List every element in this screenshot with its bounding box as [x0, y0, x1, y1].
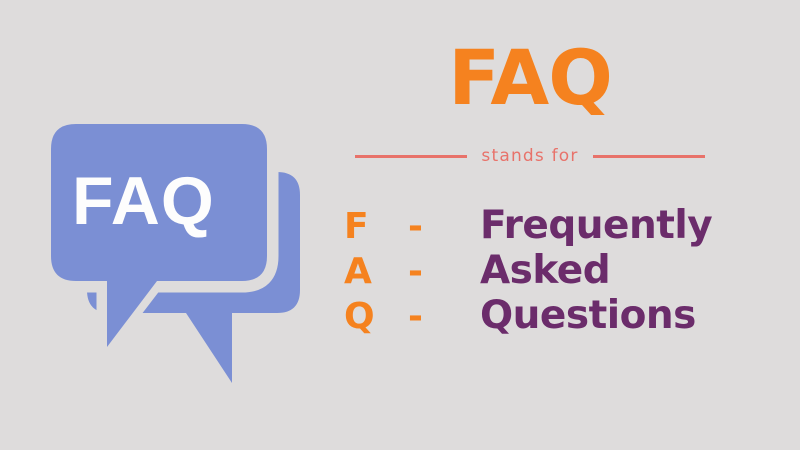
acronym-row: Q - Questions	[340, 295, 800, 340]
divider-rule-right	[593, 155, 705, 158]
acronym-word: Questions	[480, 295, 800, 337]
faq-infographic: FAQ FAQ stands for F - Frequently A - As…	[0, 0, 800, 450]
faq-speech-bubble-illustration: FAQ	[0, 0, 340, 450]
acronym-dash: -	[408, 251, 480, 293]
acronym-word: Asked	[480, 250, 800, 292]
acronym-letter: A	[340, 251, 408, 293]
stands-for-divider: stands for	[348, 140, 712, 172]
acronym-dash: -	[408, 296, 480, 338]
acronym-row: A - Asked	[340, 250, 800, 295]
acronym-expansion-list: F - Frequently A - Asked Q - Questions	[340, 205, 800, 340]
acronym-word: Frequently	[480, 205, 800, 247]
divider-rule-left	[355, 155, 467, 158]
acronym-letter: F	[340, 206, 408, 248]
bubble-faq-label: FAQ	[72, 163, 215, 239]
page-title: FAQ	[330, 38, 730, 118]
acronym-row: F - Frequently	[340, 205, 800, 250]
acronym-letter: Q	[340, 296, 408, 338]
faq-text-panel: FAQ stands for F - Frequently A - Asked …	[330, 0, 800, 450]
stands-for-label: stands for	[481, 146, 578, 166]
acronym-dash: -	[408, 206, 480, 248]
